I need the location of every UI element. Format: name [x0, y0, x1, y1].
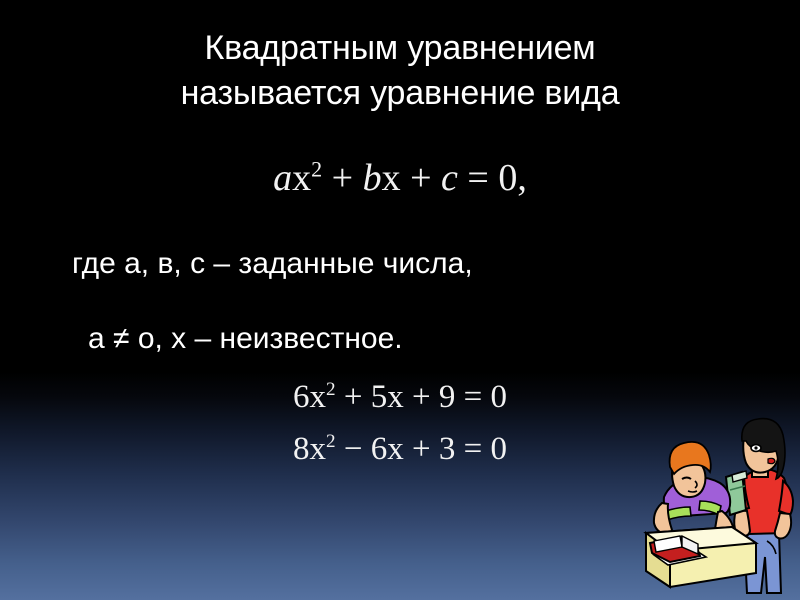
main-formula: ax2 + bx + c = 0, [0, 156, 800, 200]
teacher-pupil [754, 446, 757, 449]
example-2-tail: − 6x + 3 = 0 [336, 431, 507, 467]
title-line-1: Квадратным уравнением [60, 26, 740, 71]
formula-equals: = [458, 157, 498, 199]
formula-rhs: 0, [498, 157, 527, 199]
formula-coef-b: b [363, 157, 382, 199]
teacher-lips [768, 458, 775, 463]
statement-unknown: а ≠ о, х – неизвестное. [88, 322, 403, 356]
presentation-slide: Квадратным уравнением называется уравнен… [0, 0, 800, 600]
example-1-tail: + 5x + 9 = 0 [336, 379, 507, 415]
teacher-and-student-illustration [640, 415, 800, 600]
formula-var-x-1: x [292, 157, 311, 199]
formula-plus-1: + [322, 157, 362, 199]
statement-given-numbers: где а, в, с – заданные числа, [72, 247, 473, 281]
example-2-lead: 8x [293, 431, 326, 467]
example-equation-1: 6x2 + 5x + 9 = 0 [0, 379, 800, 416]
open-book-spine [681, 536, 682, 548]
example-1-lead: 6x [293, 379, 326, 415]
formula-coef-c: c [441, 157, 458, 199]
formula-coef-a: a [273, 157, 292, 199]
example-1-exponent: 2 [326, 379, 336, 400]
formula-exponent: 2 [311, 156, 322, 181]
example-2-exponent: 2 [326, 431, 336, 452]
formula-var-x-2: x [382, 157, 401, 199]
formula-plus-2: + [401, 157, 441, 199]
page-title: Квадратным уравнением называется уравнен… [60, 26, 740, 116]
title-line-2: называется уравнение вида [60, 71, 740, 116]
